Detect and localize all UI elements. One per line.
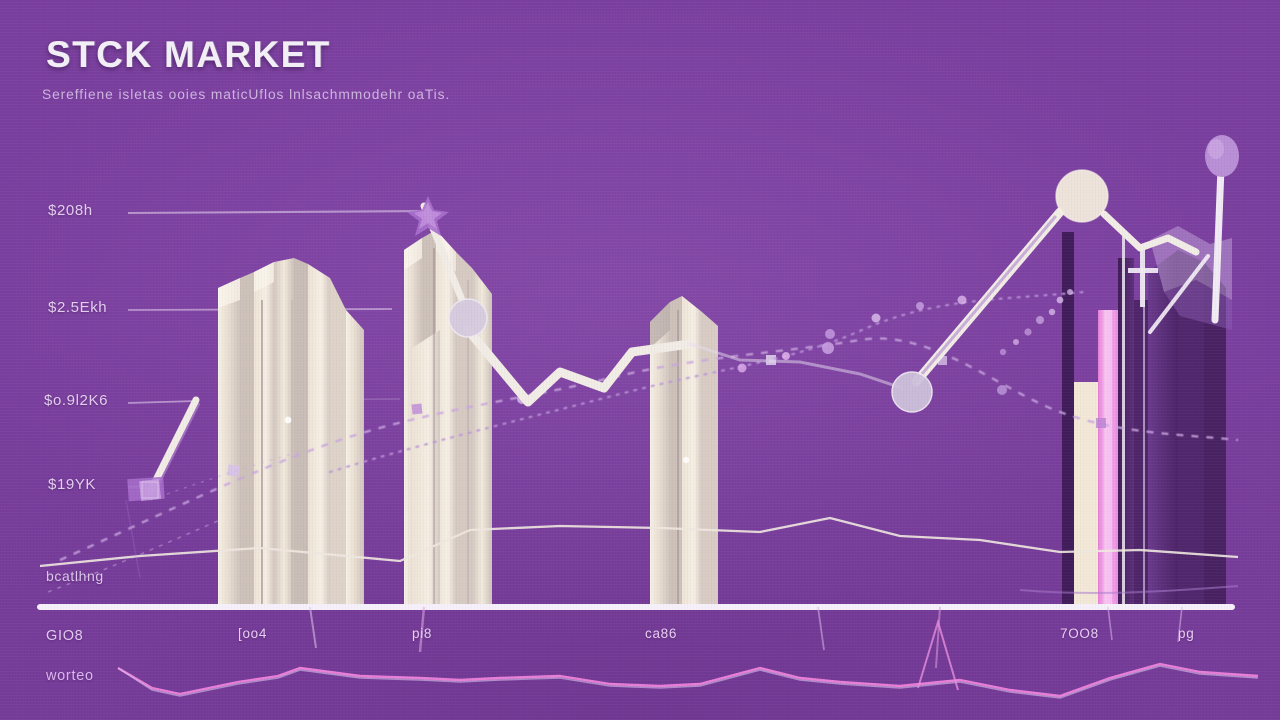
page-subtitle: Sereffiene isletas ooies maticUflos lnls… [42,87,450,102]
x-axis-label-0: GIO8 [46,628,83,644]
star-marker-cluster2 [407,196,449,236]
x-axis-label-2: pi8 [412,626,432,641]
page-title: STCK MARKET [46,34,446,76]
y-axis-label-3: $19YK [48,476,96,493]
x-axis-label-5: pg [1178,626,1194,641]
x-axis-sublabel: worteo [46,668,94,684]
y-axis-label-baseline: bcatlhng [46,568,104,584]
bar-group-cluster-2 [404,230,492,607]
axis-ticks [310,607,1182,668]
y-axis-label-0: $208h [48,202,93,219]
x-axis-label-4: 7OO8 [1060,626,1099,641]
square-marker-left [127,477,164,501]
x-axis-label-3: ca86 [645,626,677,641]
header: STCK MARKET Sereffiene isletas ooies mat… [46,34,446,102]
stock-market-chart-svg [0,0,1280,720]
y-axis-label-1: $2.5Ekh [48,299,107,316]
chart-canvas: STCK MARKET Sereffiene isletas ooies mat… [0,0,1280,720]
x-axis-label-1: [oo4 [238,626,267,641]
y-axis-label-2: $o.9l2K6 [44,392,108,409]
